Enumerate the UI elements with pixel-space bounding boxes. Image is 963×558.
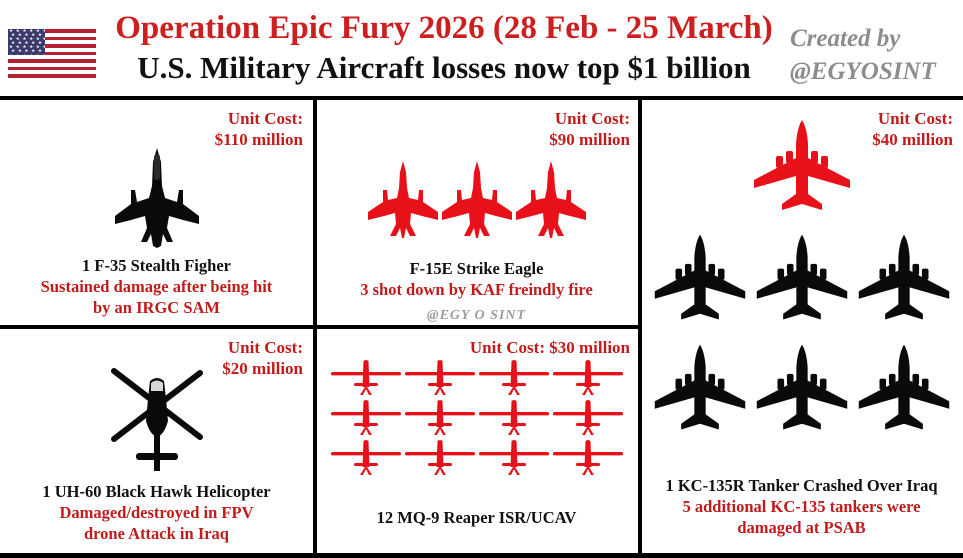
- caption-uh60-sub: Damaged/destroyed in FPV drone Attack in…: [0, 502, 313, 544]
- unit-cost-f15e: Unit Cost: $90 million: [549, 108, 630, 150]
- cell-f35: Unit Cost: $110 million 1 F-35 Stealth F…: [0, 100, 313, 325]
- credit-block: Created by @EGYOSINT: [790, 22, 960, 88]
- drone-icon: [403, 439, 477, 479]
- page-title: Operation Epic Fury 2026 (28 Feb - 25 Ma…: [104, 8, 784, 48]
- loss-grid: Unit Cost: $110 million 1 F-35 Stealth F…: [0, 96, 963, 558]
- caption-mq9-main: 12 MQ-9 Reaper ISR/UCAV: [313, 507, 640, 528]
- caption-f35-sub: Sustained damage after being hit by an I…: [0, 276, 313, 318]
- watermark-egyosint: @EGY O SINT: [313, 308, 640, 324]
- tanker-aircraft-icon: [651, 230, 749, 326]
- us-flag: ★ ★ ★ ★ ★ ★ ★ ★ ★ ★ ★ ★ ★ ★ ★ ★ ★ ★ ★ ★ …: [8, 29, 96, 78]
- cell-uh60: Unit Cost: $20 million: [0, 329, 313, 553]
- drone-row: [329, 439, 625, 479]
- credit-handle: @EGYOSINT: [790, 55, 960, 88]
- title-block: Operation Epic Fury 2026 (28 Feb - 25 Ma…: [104, 8, 784, 88]
- drone-icon: [551, 399, 625, 439]
- tanker-aircraft-icon: [753, 340, 851, 436]
- column-middle: Unit Cost: $90 million: [313, 100, 640, 553]
- tanker-aircraft-icon: [750, 118, 854, 214]
- fighter-jet-icon: [440, 160, 514, 240]
- drone-icon: [329, 399, 403, 439]
- mq9-artwork: [313, 359, 640, 479]
- tanker-aircraft-icon: [753, 230, 851, 326]
- flag-stars: ★ ★ ★ ★ ★ ★ ★ ★ ★ ★ ★ ★ ★ ★ ★ ★ ★ ★ ★ ★ …: [8, 29, 45, 55]
- fighter-jet-icon: [366, 160, 440, 240]
- unit-cost-f35: Unit Cost: $110 million: [215, 108, 303, 150]
- caption-f35-main: 1 F-35 Stealth Figher: [0, 255, 313, 276]
- cell-kc135: Unit Cost: $40 million: [640, 100, 963, 553]
- kc135-artwork-row-1: [640, 230, 963, 326]
- drone-row: [329, 359, 625, 399]
- cell-mq9: Unit Cost: $30 million: [313, 329, 640, 553]
- drone-icon: [551, 359, 625, 399]
- unit-cost-mq9: Unit Cost: $30 million: [470, 337, 630, 358]
- column-right: Unit Cost: $40 million: [640, 100, 963, 553]
- header-banner: ★ ★ ★ ★ ★ ★ ★ ★ ★ ★ ★ ★ ★ ★ ★ ★ ★ ★ ★ ★ …: [0, 0, 963, 96]
- kc135-artwork-row-2: [640, 340, 963, 436]
- cell-f15e: Unit Cost: $90 million: [313, 100, 640, 325]
- helicopter-icon: [92, 361, 222, 473]
- caption-kc135: 1 KC-135R Tanker Crashed Over Iraq 5 add…: [640, 475, 963, 538]
- tanker-aircraft-icon: [855, 340, 953, 436]
- drone-icon: [329, 359, 403, 399]
- caption-f15e-main: F-15E Strike Eagle: [313, 258, 640, 279]
- caption-uh60: 1 UH-60 Black Hawk Helicopter Damaged/de…: [0, 481, 313, 544]
- caption-kc135-main: 1 KC-135R Tanker Crashed Over Iraq: [640, 475, 963, 496]
- tanker-aircraft-icon: [651, 340, 749, 436]
- drone-icon: [477, 359, 551, 399]
- fighter-jet-icon: [514, 160, 588, 240]
- page-subtitle: U.S. Military Aircraft losses now top $1…: [104, 48, 784, 88]
- tanker-aircraft-icon: [855, 230, 953, 326]
- drone-icon: [551, 439, 625, 479]
- f35-artwork: [0, 146, 313, 255]
- f15e-artwork: [313, 160, 640, 240]
- caption-f15e-sub: 3 shot down by KAF freindly fire: [313, 279, 640, 300]
- drone-icon: [403, 399, 477, 439]
- caption-mq9: 12 MQ-9 Reaper ISR/UCAV: [313, 507, 640, 528]
- drone-row: [329, 399, 625, 439]
- caption-kc135-sub: 5 additional KC-135 tankers were damaged…: [640, 496, 963, 538]
- kc135-artwork-lost: [640, 118, 963, 219]
- caption-f35: 1 F-35 Stealth Figher Sustained damage a…: [0, 255, 313, 318]
- drone-icon: [477, 439, 551, 479]
- column-left: Unit Cost: $110 million 1 F-35 Stealth F…: [0, 100, 313, 553]
- uh60-artwork: [0, 361, 313, 478]
- credit-line-1: Created by: [790, 22, 960, 55]
- drone-icon: [477, 399, 551, 439]
- caption-f15e: F-15E Strike Eagle 3 shot down by KAF fr…: [313, 258, 640, 300]
- drone-icon: [403, 359, 477, 399]
- fighter-jet-icon: [113, 146, 201, 250]
- drone-icon: [329, 439, 403, 479]
- caption-uh60-main: 1 UH-60 Black Hawk Helicopter: [0, 481, 313, 502]
